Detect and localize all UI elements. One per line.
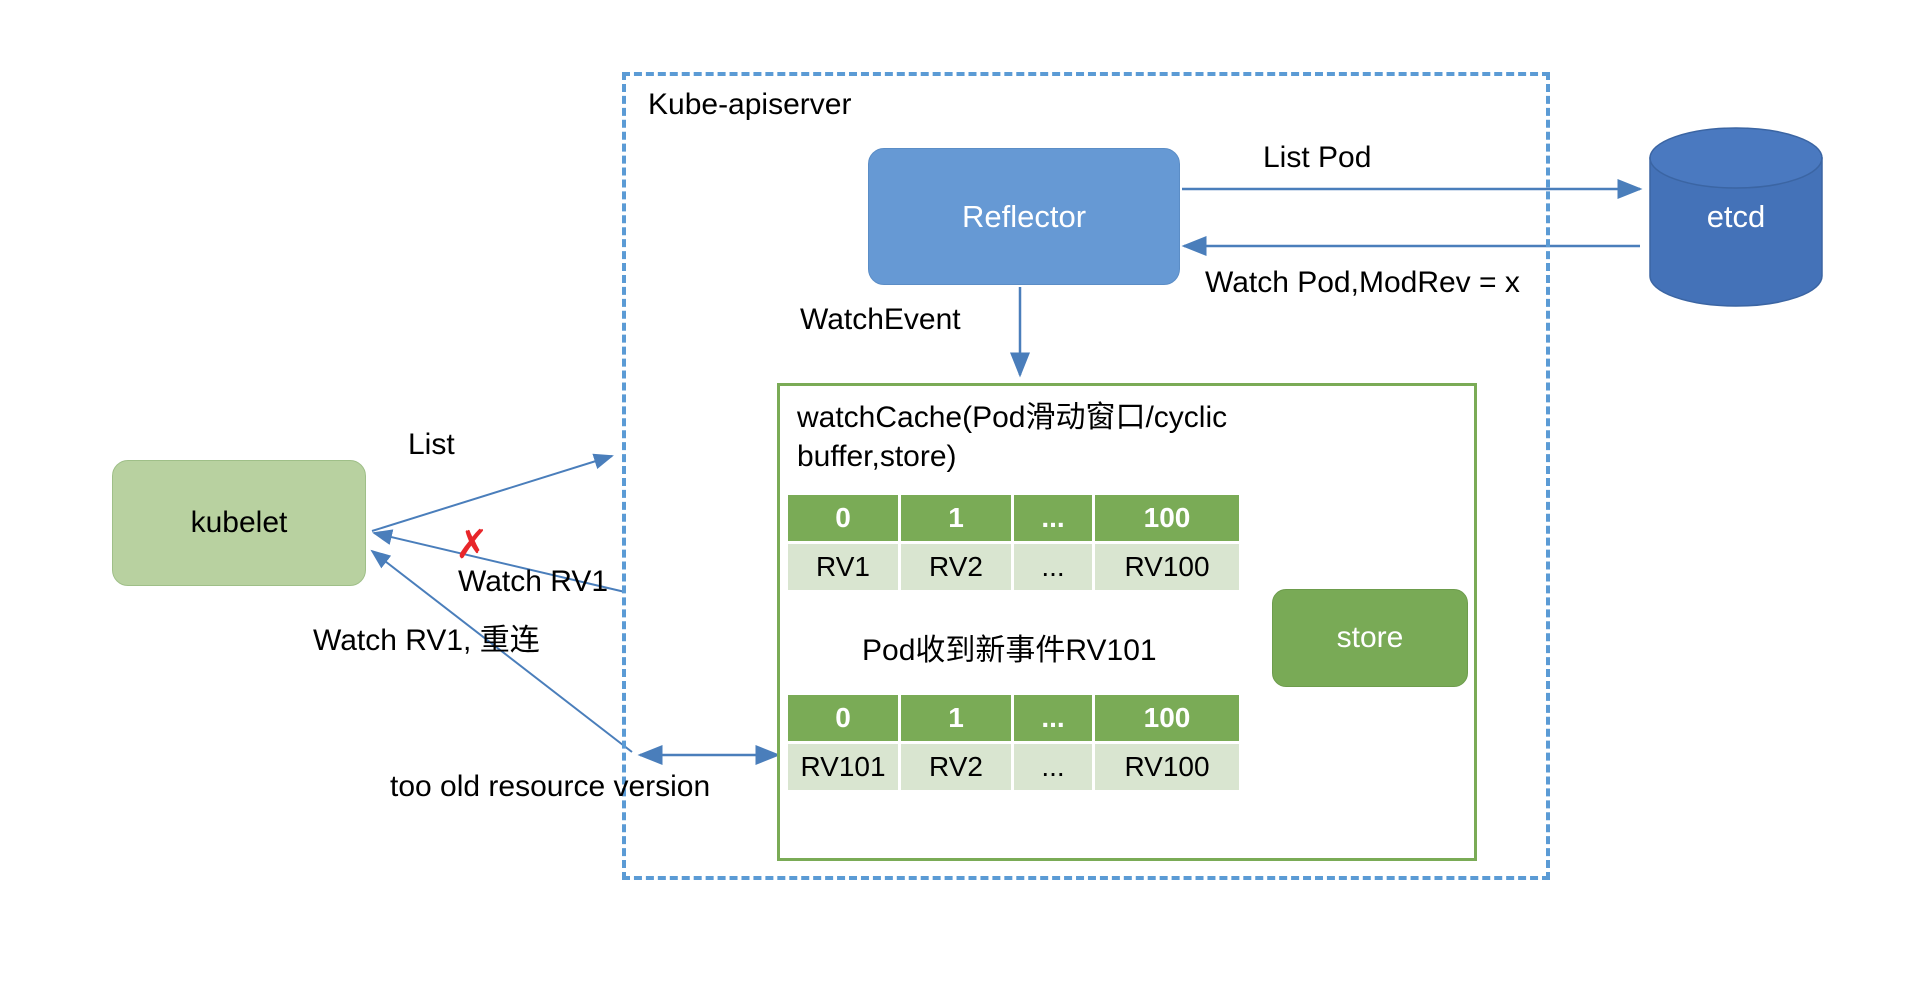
buffer-value-cell: ... <box>1014 744 1092 790</box>
cyclic-buffer-table-before: 0 1 ... 100 RV1 RV2 ... RV100 <box>785 492 1242 593</box>
buffer-value-cell: RV100 <box>1095 544 1239 590</box>
edge-label-list: List <box>408 428 455 462</box>
buffer-index-cell: 100 <box>1095 495 1239 541</box>
cyclic-buffer-table-after: 0 1 ... 100 RV101 RV2 ... RV100 <box>785 692 1242 793</box>
etcd-node[interactable]: etcd <box>1650 128 1822 306</box>
table-row: 0 1 ... 100 <box>788 495 1239 541</box>
table-row: RV1 RV2 ... RV100 <box>788 544 1239 590</box>
edge-label-watch-event: WatchEvent <box>800 303 961 337</box>
buffer-index-cell: 1 <box>901 695 1011 741</box>
buffer-value-cell: RV101 <box>788 744 898 790</box>
watchcache-title: watchCache(Pod滑动窗口/cyclic buffer,store) <box>797 398 1357 476</box>
buffer-index-cell: ... <box>1014 695 1092 741</box>
failure-x-icon: ✗ <box>455 525 489 565</box>
kubelet-node[interactable]: kubelet <box>112 460 366 586</box>
edge-label-watch-rv1-reconnect: Watch RV1, 重连 <box>313 624 540 658</box>
edge-label-too-old-resource-version: too old resource version <box>390 770 710 804</box>
buffer-index-cell: 0 <box>788 695 898 741</box>
buffer-index-cell: 1 <box>901 495 1011 541</box>
kube-apiserver-label: Kube-apiserver <box>648 88 851 122</box>
store-label: store <box>1337 621 1404 655</box>
buffer-value-cell: RV2 <box>901 744 1011 790</box>
buffer-value-cell: RV1 <box>788 544 898 590</box>
diagram-canvas: Kube-apiserver Reflector etcd kubelet wa… <box>0 0 1920 986</box>
etcd-label: etcd <box>1650 128 1822 306</box>
buffer-value-cell: RV2 <box>901 544 1011 590</box>
buffer-value-cell: RV100 <box>1095 744 1239 790</box>
edge-label-pod-new-event: Pod收到新事件RV101 <box>862 634 1157 668</box>
edge-label-list-pod: List Pod <box>1263 141 1371 175</box>
kubelet-label: kubelet <box>191 506 288 540</box>
buffer-value-cell: ... <box>1014 544 1092 590</box>
reflector-node[interactable]: Reflector <box>868 148 1180 285</box>
arrow-list <box>372 456 612 531</box>
buffer-index-cell: ... <box>1014 495 1092 541</box>
edge-label-watch-pod-modrev: Watch Pod,ModRev = x <box>1205 266 1520 300</box>
store-node[interactable]: store <box>1272 589 1468 687</box>
buffer-index-cell: 0 <box>788 495 898 541</box>
buffer-index-cell: 100 <box>1095 695 1239 741</box>
edge-label-watch-rv1: Watch RV1 <box>458 565 608 599</box>
table-row: 0 1 ... 100 <box>788 695 1239 741</box>
table-row: RV101 RV2 ... RV100 <box>788 744 1239 790</box>
reflector-label: Reflector <box>962 199 1086 235</box>
